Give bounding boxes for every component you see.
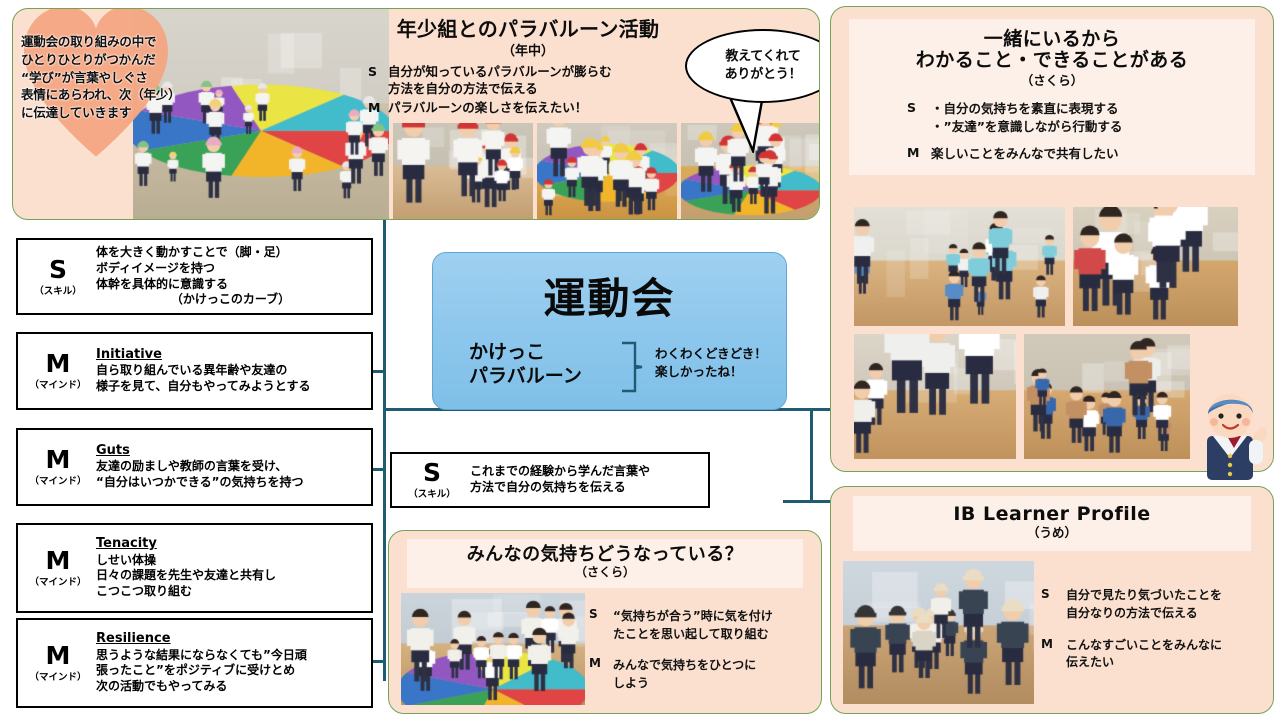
speech-bubble: 教えてくれてありがとう！ <box>685 29 820 103</box>
sm-value: “気持ちが合う”時に気を付け たことを思い起して取り組む <box>613 607 773 643</box>
left-box-resilience: M （マインド） Resilience 思うような結果にならなくても”今日頑 張… <box>16 618 373 708</box>
box-line: こつこつ取り組む <box>96 584 365 600</box>
box-key-jp: （マインド） <box>20 574 96 588</box>
sm-key: S <box>589 607 613 643</box>
left-box-initiative: M （マインド） Initiative 自ら取り組んでいる異年齢や友達の 様子を… <box>16 332 373 410</box>
right-top-title: 一緒にいるからわかること・できることがある <box>855 29 1249 72</box>
sm-key: M <box>368 99 388 116</box>
center-note: わくわくどきどき！楽しかったね！ <box>655 345 785 381</box>
left-box-skill-1: S （スキル） 体を大きく動かすことで（脚・足） ボディイメージを持つ 体幹を具… <box>16 238 373 315</box>
box-line: 友達の励ましや教師の言葉を受け、 <box>96 459 365 475</box>
sm-value: 楽しいことをみんなで共有したい <box>931 145 1119 163</box>
sm-value: 自分で見たり気づいたことを自分なりの方法で伝える <box>1066 587 1222 623</box>
bottom-middle-header: みんなの気持ちどうなっている？ （さくら） <box>407 539 803 588</box>
box-heading: Guts <box>96 443 365 460</box>
box-key: M （マインド） <box>18 351 96 391</box>
photo-paraballoon-indoor <box>401 593 585 705</box>
center-items: かけっこパラバルーン <box>469 341 619 389</box>
heart-note-text: 運動会の取り組みの中でひとりひとりがつかんだ“学び”が言葉やしぐさ表情にあらわれ… <box>21 33 221 122</box>
connector-right-vertical <box>810 408 813 503</box>
sm-key: M <box>1041 637 1066 673</box>
list-item: M みんなで気持ちをひとつにしよう <box>589 656 813 692</box>
list-item: M パラバルーンの楽しさを伝えたい！ <box>368 99 698 116</box>
list-item: M こんなすごいことをみんなに伝えたい <box>1041 637 1269 673</box>
box-line: 張ったこと”をポジティブに受けとめ <box>96 663 365 679</box>
box-body: Resilience 思うような結果にならなくても”今日頑 張ったこと”をポジテ… <box>96 631 371 696</box>
box-key-letter: M <box>20 643 96 668</box>
right-top-sm-list: S ・自分の気持ちを素直に表現する・”友達”を意識しながら行動する M 楽しいこ… <box>907 100 1249 163</box>
speech-bubble-tail-icon <box>727 95 775 153</box>
center-title: 運動会 <box>433 265 786 326</box>
list-item: S 自分が知っているパラバルーンが膨らむ 方法を自分の方法で伝える <box>368 63 698 98</box>
box-line: 次の活動でもやってみる <box>96 679 365 695</box>
top-strip-title: 年少組とのパラバルーン活動 <box>363 13 693 42</box>
sm-key: S <box>1041 587 1066 623</box>
photo-paraballoon-circle <box>537 123 677 219</box>
photo-boy-girl-handshake <box>854 334 1016 459</box>
box-key: M （マインド） <box>18 447 96 487</box>
sm-value: 自分が知っているパラバルーンが膨らむ 方法を自分の方法で伝える <box>388 63 612 98</box>
bottom-middle-panel: みんなの気持ちどうなっている？ （さくら） S “気持ちが合う”時に気を付け た… <box>388 530 822 714</box>
box-key: M （マインド） <box>18 548 96 588</box>
box-line: これまでの経験から学んだ言葉や <box>470 464 702 480</box>
sm-value: ・自分の気持ちを素直に表現する・”友達”を意識しながら行動する <box>931 100 1122 136</box>
box-key: M （マインド） <box>18 643 96 683</box>
photo-red-cap-children <box>393 123 533 219</box>
sm-key: S <box>907 100 931 136</box>
box-heading: Initiative <box>96 347 365 364</box>
sm-value: パラバルーンの楽しさを伝えたい！ <box>388 99 587 116</box>
photo-two-children-hands <box>1073 207 1238 326</box>
left-box-guts: M （マインド） Guts 友達の励ましや教師の言葉を受け、 “自分はいつかでき… <box>16 428 373 506</box>
box-line: 体幹を具体的に意識する <box>96 277 365 293</box>
list-item: S 自分で見たり気づいたことを自分なりの方法で伝える <box>1041 587 1269 623</box>
list-item: S “気持ちが合う”時に気を付け たことを思い起して取り組む <box>589 607 813 643</box>
sm-value: みんなで気持ちをひとつにしよう <box>613 656 756 692</box>
box-line: “自分はいつかできる”の気持ちを持つ <box>96 475 365 491</box>
box-key-jp: （マインド） <box>20 377 96 391</box>
box-key: S （スキル） <box>18 257 96 297</box>
list-item: M 楽しいことをみんなで共有したい <box>907 145 1249 163</box>
left-box-tenacity: M （マインド） Tenacity しせい体操 日々の課題を先生や友達と共有し … <box>16 523 373 613</box>
box-body: Initiative 自ら取り組んでいる異年齢や友達の 様子を見て、自分もやって… <box>96 347 371 396</box>
right-bottom-header: IB Learner Profile （うめ） <box>853 496 1251 551</box>
box-body: Guts 友達の励ましや教師の言葉を受け、 “自分はいつかできる”の気持ちを持つ <box>96 443 371 492</box>
box-key-letter: M <box>20 447 96 472</box>
box-body: Tenacity しせい体操 日々の課題を先生や友達と共有し こつこつ取り組む <box>96 536 371 601</box>
center-topic-box: 運動会 かけっこパラバルーン わくわくどきどき！楽しかったね！ <box>432 252 787 410</box>
box-key-jp: （スキル） <box>394 486 470 500</box>
box-line: （かけっこのカーブ） <box>96 292 365 308</box>
photo-children-presentation <box>843 561 1034 704</box>
connector-right-to-rp-top <box>783 408 833 411</box>
photo-classroom-dance <box>854 207 1065 326</box>
top-strip-panel: 運動会の取り組みの中でひとりひとりがつかんだ“学び”が言葉やしぐさ表情にあらわれ… <box>12 8 820 220</box>
right-bottom-title: IB Learner Profile <box>859 504 1245 525</box>
right-top-subtitle: （さくら） <box>855 74 1249 88</box>
box-key-letter: S <box>394 460 470 485</box>
right-top-header: 一緒にいるからわかること・できることがある （さくら） S ・自分の気持ちを素直… <box>849 19 1255 175</box>
box-line: 自ら取り組んでいる異年齢や友達の <box>96 363 365 379</box>
box-heading: Resilience <box>96 631 365 648</box>
box-key-letter: M <box>20 548 96 573</box>
sm-value: こんなすごいことをみんなに伝えたい <box>1066 637 1222 673</box>
mascot-character-icon <box>1193 388 1275 480</box>
photo-circle-game <box>1024 334 1190 459</box>
right-bottom-subtitle: （うめ） <box>859 526 1245 540</box>
box-line: 方法で自分の気持ちを伝える <box>470 480 702 496</box>
box-key-jp: （スキル） <box>20 283 96 297</box>
box-body: これまでの経験から学んだ言葉や 方法で自分の気持ちを伝える <box>470 464 708 496</box>
bottom-middle-sm-list: S “気持ちが合う”時に気を付け たことを思い起して取り組む M みんなで気持ち… <box>589 607 813 692</box>
top-strip-subtitle: （年中） <box>363 40 693 59</box>
box-body: 体を大きく動かすことで（脚・足） ボディイメージを持つ 体幹を具体的に意識する … <box>96 245 371 309</box>
box-key-jp: （マインド） <box>20 669 96 683</box>
box-line: 体を大きく動かすことで（脚・足） <box>96 245 365 261</box>
speech-bubble-text: 教えてくれてありがとう！ <box>725 48 802 83</box>
box-line: 日々の課題を先生や友達と共有し <box>96 568 365 584</box>
sm-key: M <box>907 145 931 163</box>
sm-key: S <box>368 63 388 80</box>
mid-skill-box: S （スキル） これまでの経験から学んだ言葉や 方法で自分の気持ちを伝える <box>390 452 710 508</box>
right-bottom-sm-list: S 自分で見たり気づいたことを自分なりの方法で伝える M こんなすごいことをみん… <box>1041 587 1269 672</box>
sm-key: M <box>589 656 613 692</box>
brace-icon <box>619 341 645 393</box>
box-line: 思うような結果にならなくても”今日頑 <box>96 648 365 664</box>
box-heading: Tenacity <box>96 536 365 553</box>
right-bottom-panel: IB Learner Profile （うめ） S 自分で見たり気づいたことを自… <box>830 486 1274 714</box>
top-strip-sm-list: S 自分が知っているパラバルーンが膨らむ 方法を自分の方法で伝える M パラバル… <box>368 63 698 117</box>
box-key-letter: S <box>20 257 96 282</box>
box-line: ボディイメージを持つ <box>96 261 365 277</box>
box-line: しせい体操 <box>96 553 365 569</box>
connector-vertical-main <box>383 218 386 681</box>
list-item: S ・自分の気持ちを素直に表現する・”友達”を意識しながら行動する <box>907 100 1249 136</box>
bottom-middle-title: みんなの気持ちどうなっている？ <box>413 545 797 565</box>
box-key-letter: M <box>20 351 96 376</box>
bottom-middle-subtitle: （さくら） <box>413 566 797 580</box>
box-line: 様子を見て、自分もやってみようとする <box>96 379 365 395</box>
box-key-jp: （マインド） <box>20 473 96 487</box>
box-key: S （スキル） <box>392 460 470 500</box>
